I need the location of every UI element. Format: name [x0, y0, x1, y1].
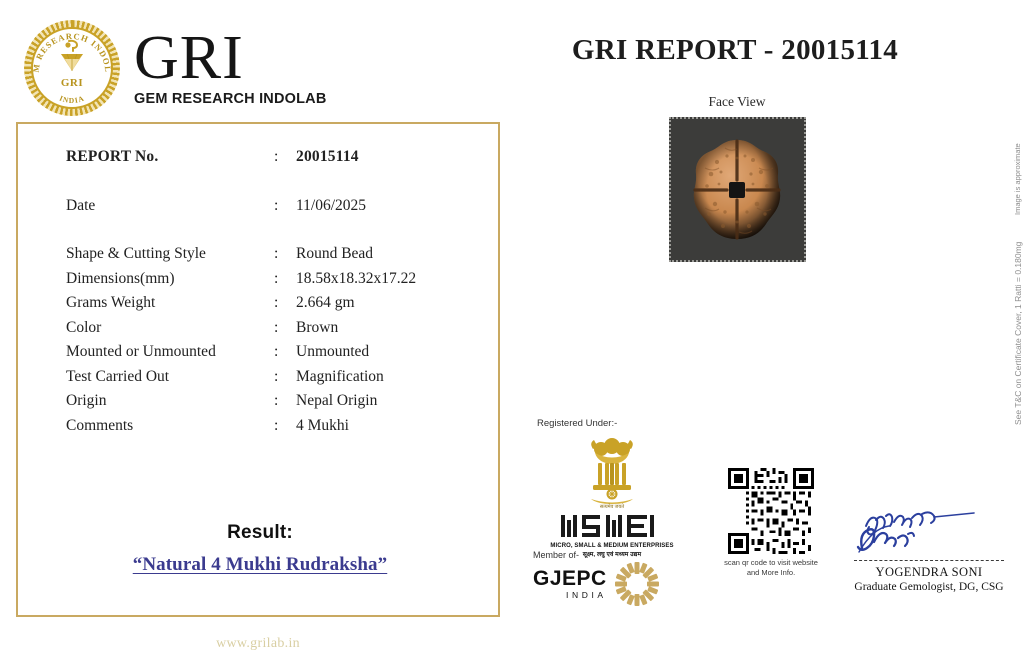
row-label: Grams Weight [66, 294, 274, 312]
row-separator: : [274, 294, 296, 312]
photo-caption: Face View [612, 94, 862, 110]
row-separator: : [274, 245, 296, 263]
row-label: Mounted or Unmounted [66, 343, 274, 361]
row-label: Dimensions(mm) [66, 270, 274, 288]
registered-under-block: Registered Under:- [537, 418, 687, 559]
image-approximate-note: Image is approximate [1013, 143, 1022, 215]
svg-text:INDIA: INDIA [58, 93, 86, 105]
brand-subtitle-bold: GEM [134, 91, 168, 107]
row-label: REPORT No. [66, 148, 274, 166]
qr-block: scan qr code to visit website and More I… [706, 468, 836, 578]
details-table: REPORT No. : 20015114 Date : 11/06/2025 … [66, 148, 466, 441]
diamond-microscope-icon [55, 39, 89, 77]
qr-caption-line1: scan qr code to visit website [706, 558, 836, 568]
signatory-name: YOGENDRA SONI [840, 565, 1018, 580]
row-value: Nepal Origin [296, 392, 466, 410]
row-separator: : [274, 270, 296, 288]
row-value: 20015114 [296, 148, 466, 166]
brand-wordmark: GRI GEM RESEARCH INDOLAB [134, 29, 327, 107]
row-value: Unmounted [296, 343, 466, 361]
row-label: Shape & Cutting Style [66, 245, 274, 263]
signatory-title: Graduate Gemologist, DG, CSG [840, 581, 1018, 593]
signature-block: YOGENDRA SONI Graduate Gemologist, DG, C… [840, 508, 1018, 593]
gjepc-text-group: GJEPC INDIA [533, 568, 607, 600]
row-separator: : [274, 148, 296, 166]
certificate-page: GEM RESEARCH INDOLAB INDIA GRI [0, 0, 1024, 665]
seal-center-group: GRI [55, 39, 89, 89]
gjepc-country-label: INDIA [533, 590, 607, 600]
table-row: Origin : Nepal Origin [66, 392, 466, 417]
row-label: Origin [66, 392, 274, 410]
rudraksha-bead-image [681, 134, 793, 246]
result-block: Result: “Natural 4 Mukhi Rudraksha” [18, 522, 502, 576]
row-label: Color [66, 319, 274, 337]
qr-code-icon[interactable] [728, 468, 814, 554]
page-header: GEM RESEARCH INDOLAB INDIA GRI [0, 0, 1024, 118]
table-row: Comments : 4 Mukhi [66, 417, 466, 442]
row-separator: : [274, 368, 296, 386]
table-row: Date : 11/06/2025 [66, 197, 466, 222]
gjepc-row: GJEPC INDIA [533, 561, 693, 607]
gjepc-wordmark: GJEPC [533, 568, 607, 589]
msme-wordmark-icon [560, 511, 665, 541]
table-row: REPORT No. : 20015114 [66, 148, 466, 173]
table-row: Grams Weight : 2.664 gm [66, 294, 466, 319]
brand-title: GRI [134, 29, 327, 89]
brand-logo-block: GEM RESEARCH INDOLAB INDIA GRI [24, 20, 327, 116]
gem-photo [669, 117, 806, 262]
page-title: GRI REPORT - 20015114 [520, 34, 950, 67]
msme-subtitle-en: MICRO, SMALL & MEDIUM ENTERPRISES [537, 542, 687, 550]
gjepc-member-block: Member of- GJEPC INDIA [533, 550, 693, 607]
table-row: Mounted or Unmounted : Unmounted [66, 343, 466, 368]
gjepc-sunburst-icon [614, 561, 660, 607]
row-separator: : [274, 319, 296, 337]
seal-center-label: GRI [55, 78, 89, 89]
signature-line [854, 560, 1004, 561]
face-view-block: Face View [612, 94, 862, 262]
qr-caption: scan qr code to visit website and More I… [706, 558, 836, 578]
table-row: Color : Brown [66, 319, 466, 344]
certificate-details-panel: REPORT No. : 20015114 Date : 11/06/2025 … [16, 122, 500, 617]
row-label: Date [66, 197, 274, 215]
result-value: “Natural 4 Mukhi Rudraksha” [18, 554, 502, 576]
gjepc-member-label: Member of- [533, 550, 693, 560]
row-label: Test Carried Out [66, 368, 274, 386]
table-row: Dimensions(mm) : 18.58x18.32x17.22 [66, 270, 466, 295]
registered-under-label: Registered Under:- [537, 418, 687, 429]
seal-arc-bottom-label: INDIA [58, 93, 86, 105]
row-separator: : [274, 417, 296, 435]
row-value: 2.664 gm [296, 294, 466, 312]
gri-seal-icon: GEM RESEARCH INDOLAB INDIA GRI [24, 20, 120, 116]
row-value: Magnification [296, 368, 466, 386]
row-value: Brown [296, 319, 466, 337]
result-label: Result: [18, 522, 502, 544]
brand-subtitle-rest: RESEARCH INDOLAB [172, 91, 327, 107]
ashoka-lion-capital-icon: सत्यमेव जयते [577, 433, 647, 509]
row-label: Comments [66, 417, 274, 435]
table-row: Shape & Cutting Style : Round Bead [66, 245, 466, 270]
table-row: Test Carried Out : Magnification [66, 368, 466, 393]
row-value: 11/06/2025 [296, 197, 466, 215]
website-url[interactable]: www.grilab.in [16, 636, 500, 652]
terms-conditions-note: See T&C on Certificate Cover, 1 Ratti = … [1013, 242, 1023, 425]
row-separator: : [274, 343, 296, 361]
row-value: Round Bead [296, 245, 466, 263]
brand-subtitle: GEM RESEARCH INDOLAB [134, 91, 327, 107]
handwritten-signature [854, 508, 1004, 560]
row-separator: : [274, 197, 296, 215]
row-value: 4 Mukhi [296, 417, 466, 435]
qr-caption-line2: and More Info. [706, 568, 836, 578]
row-value: 18.58x18.32x17.22 [296, 270, 466, 288]
row-separator: : [274, 392, 296, 410]
